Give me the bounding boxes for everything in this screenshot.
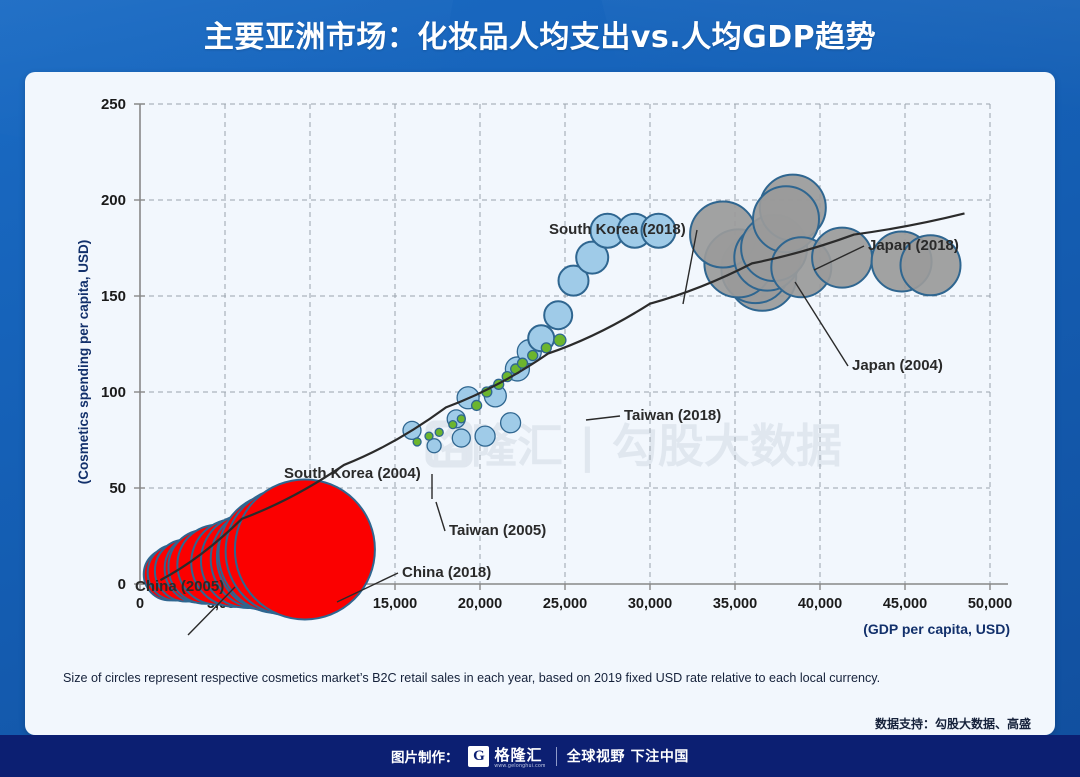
y-axis-tick-label: 0	[118, 576, 126, 593]
bubble-chart: 格隆汇 | 勾股大数据05010015020025005,00010,00015…	[25, 72, 1055, 652]
bubble-point	[472, 400, 482, 410]
logo-g-icon: G	[468, 746, 489, 767]
bubble-point	[528, 351, 538, 361]
bubble-point	[541, 343, 551, 353]
y-axis-tick-label: 200	[101, 192, 126, 209]
x-axis-tick-label: 30,000	[628, 596, 672, 612]
bubble-series-china	[144, 479, 375, 619]
y-axis-tick-label: 50	[109, 480, 126, 497]
x-axis-tick-label: 20,000	[458, 596, 502, 612]
bubble-point	[235, 479, 375, 619]
annotation-leader-line	[795, 282, 848, 366]
logo-wordmark: 格隆汇	[494, 746, 542, 764]
bubble-point	[501, 413, 521, 433]
data-source-label: 数据支持：勾股大数据、高盛	[875, 715, 1031, 732]
x-axis-title: (GDP per capita, USD)	[863, 621, 1010, 637]
page-footer: 图片制作： G 格隆汇 www.gelonghui.com 全球视野 下注中国	[0, 735, 1080, 777]
annotation-label: South Korea (2004)	[284, 465, 421, 482]
bubble-point	[427, 439, 441, 453]
bubble-point	[554, 334, 566, 346]
annotation-leader-line	[436, 502, 445, 531]
annotation-label: Taiwan (2018)	[624, 407, 721, 424]
chart-footnote: Size of circles represent respective cos…	[63, 670, 1018, 686]
screenshot-root: 主要亚洲市场：化妆品人均支出vs.人均GDP趋势 格隆汇 | 勾股大数据0501…	[0, 0, 1080, 777]
x-axis-tick-label: 15,000	[373, 596, 417, 612]
chart-svg: 格隆汇 | 勾股大数据05010015020025005,00010,00015…	[25, 72, 1055, 652]
bubble-point	[544, 301, 572, 329]
logo-url: www.gelonghui.com	[494, 763, 545, 769]
footer-slogan: 全球视野 下注中国	[567, 746, 689, 766]
gelonghui-logo: G 格隆汇 www.gelonghui.com	[468, 744, 545, 769]
y-axis-tick-label: 250	[101, 96, 126, 113]
annotation-label: China (2005)	[135, 578, 224, 595]
bubble-point	[475, 426, 495, 446]
footer-divider	[556, 747, 557, 766]
annotation-label: Taiwan (2005)	[449, 522, 546, 539]
annotation-label: South Korea (2018)	[549, 221, 686, 238]
x-axis-tick-label: 40,000	[798, 596, 842, 612]
bubble-point	[413, 438, 421, 446]
x-axis-tick-label: 45,000	[883, 596, 927, 612]
chart-card: 格隆汇 | 勾股大数据05010015020025005,00010,00015…	[25, 72, 1055, 735]
x-axis-tick-label: 50,000	[968, 596, 1012, 612]
y-axis-tick-label: 150	[101, 288, 126, 305]
bubble-point	[449, 421, 457, 429]
y-axis-title: (Cosmetics spending per capita, USD)	[76, 240, 91, 485]
annotation-label: Japan (2004)	[852, 357, 943, 374]
annotation-label: China (2018)	[402, 564, 491, 581]
x-axis-tick-label: 0	[136, 596, 144, 612]
made-by-label: 图片制作：	[391, 746, 459, 766]
bubble-point	[457, 415, 465, 423]
bubble-point	[452, 429, 470, 447]
annotation-taiwan-2005: Taiwan (2005)	[436, 502, 546, 539]
bubble-point	[812, 228, 872, 288]
annotation-label: Japan (2018)	[868, 237, 959, 254]
bubble-point	[435, 428, 443, 436]
page-title: 主要亚洲市场：化妆品人均支出vs.人均GDP趋势	[0, 12, 1080, 56]
bubble-point	[425, 432, 433, 440]
x-axis-tick-label: 25,000	[543, 596, 587, 612]
y-axis-tick-label: 100	[101, 384, 126, 401]
x-axis-tick-label: 35,000	[713, 596, 757, 612]
